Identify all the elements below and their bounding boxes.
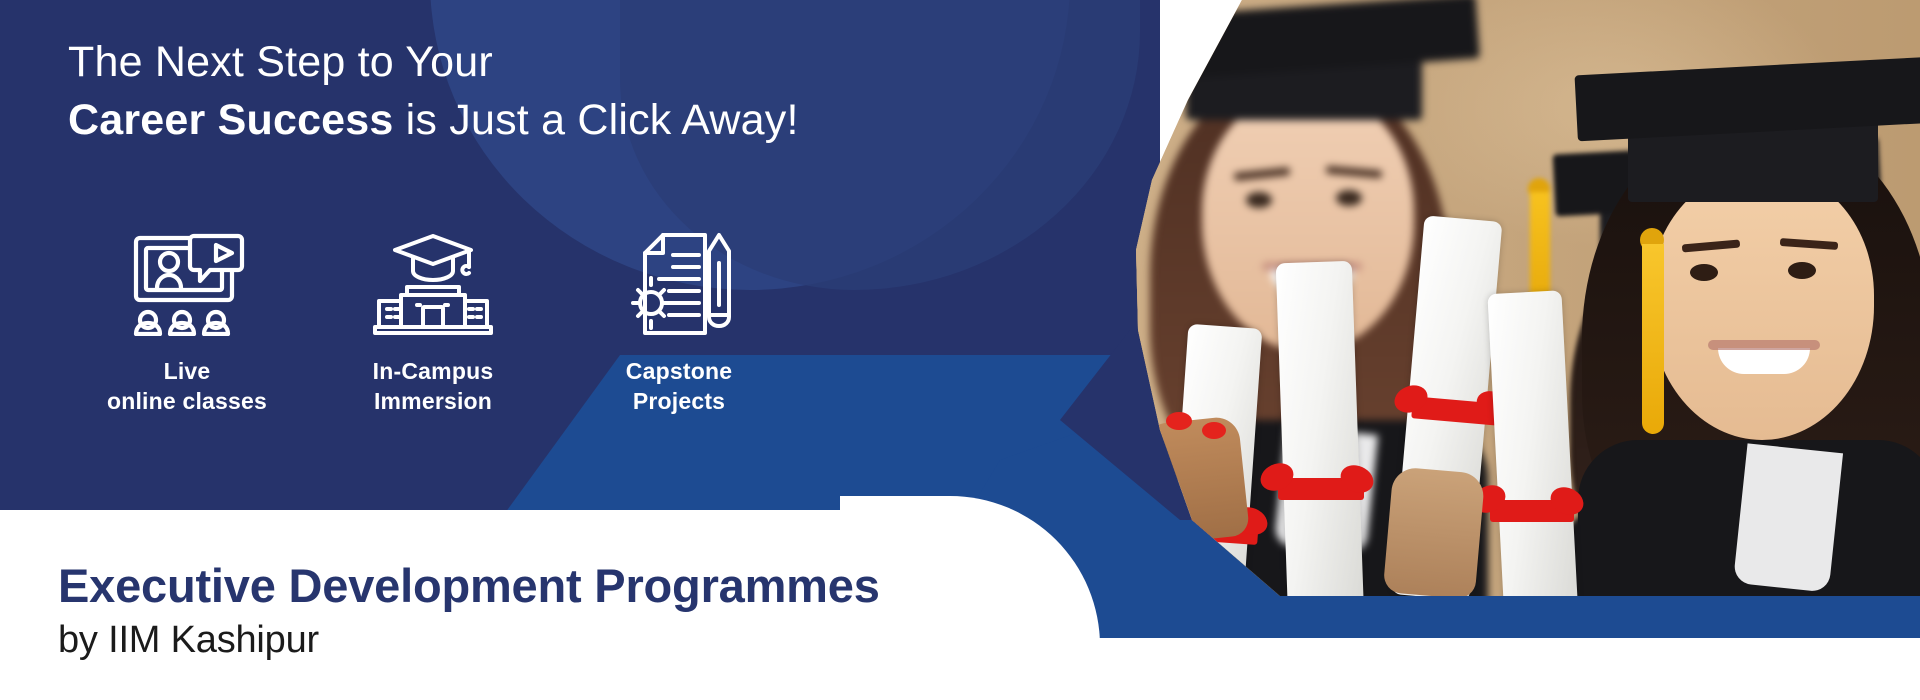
feature-label-line-2: Immersion bbox=[374, 388, 492, 414]
document-gear-pencil-icon bbox=[623, 228, 735, 340]
graduates-photo bbox=[1130, 0, 1920, 596]
headline-line-2: Career Success is Just a Click Away! bbox=[68, 94, 799, 146]
headline-line-2-rest: is Just a Click Away! bbox=[394, 96, 799, 144]
feature-in-campus-immersion[interactable]: In-Campus Immersion bbox=[310, 228, 556, 417]
edp-promo-banner: The Next Step to Your Career Success is … bbox=[0, 0, 1920, 700]
online-class-screen-icon bbox=[124, 228, 250, 340]
feature-label: Live online classes bbox=[107, 356, 267, 417]
feature-label: In-Campus Immersion bbox=[373, 356, 494, 417]
feature-live-online-classes[interactable]: Live online classes bbox=[64, 228, 310, 417]
feature-capstone-projects[interactable]: Capstone Projects bbox=[556, 228, 802, 417]
programme-subtitle: by IIM Kashipur bbox=[58, 619, 880, 662]
feature-label-line-2: Projects bbox=[633, 388, 725, 414]
footer-titles: Executive Development Programmes by IIM … bbox=[58, 560, 880, 662]
feature-list: Live online classes bbox=[64, 228, 802, 417]
programme-title: Executive Development Programmes bbox=[58, 560, 880, 613]
feature-label-line-2: online classes bbox=[107, 388, 267, 414]
feature-label-line-1: In-Campus bbox=[373, 358, 494, 384]
headline-line-1: The Next Step to Your bbox=[68, 36, 799, 88]
feature-label-line-1: Capstone bbox=[626, 358, 732, 384]
feature-label: Capstone Projects bbox=[626, 356, 732, 417]
feature-label-line-1: Live bbox=[164, 358, 211, 384]
campus-building-graduation-cap-icon bbox=[373, 228, 493, 340]
headline-emphasis: Career Success bbox=[68, 96, 394, 144]
headline: The Next Step to Your Career Success is … bbox=[68, 36, 799, 147]
